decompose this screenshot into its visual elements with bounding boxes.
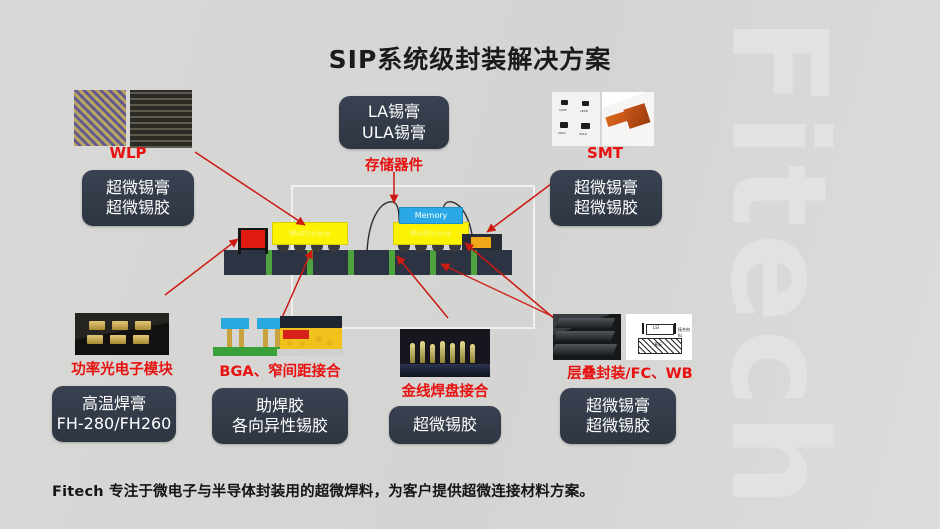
box-memory-materials: LA锡膏 ULA锡膏 — [339, 96, 449, 149]
smt-component — [581, 123, 590, 129]
red-capacitor-component — [238, 228, 268, 250]
gold-wire — [460, 341, 465, 363]
fc-wb-schematic: LSI 接合材料 基板 — [626, 314, 692, 360]
fp-top-die — [280, 316, 342, 328]
schematic-bump — [642, 323, 644, 334]
substrate-via — [471, 250, 477, 275]
ball-grid-array-photo — [130, 90, 192, 148]
memory-chip: Memory — [399, 207, 463, 224]
caption-power-module: 功率光电子模块 — [52, 358, 192, 379]
die-label-right: Multicore — [410, 229, 451, 238]
fp-solder-ball — [299, 341, 305, 347]
box-gold-wire-materials: 超微锡胶 — [389, 406, 501, 444]
substrate-via — [348, 250, 354, 275]
wire-bond-substrate — [400, 364, 490, 377]
fp-solder-ball — [315, 336, 322, 343]
flex-pcb-photo — [602, 92, 654, 146]
box-stacked-line-1: 超微锡膏 — [586, 396, 650, 416]
smt-component — [561, 100, 568, 105]
memory-chip-label: Memory — [415, 211, 448, 220]
fp-solder-ball — [327, 340, 333, 346]
stacked-die-layer — [553, 344, 617, 355]
caption-wlp: WLP — [98, 144, 158, 162]
caption-smt: SMT — [575, 144, 635, 162]
box-smt-materials: 超微锡膏 超微锡胶 — [550, 170, 662, 226]
box-memory-line-1: LA锡膏 — [368, 102, 420, 122]
box-bga-materials: 助焊胶 各向异性锡胶 — [212, 388, 348, 444]
caption-stacked-package: 层叠封装/FC、WB — [540, 362, 720, 383]
box-smt-line-2: 超微锡胶 — [574, 198, 638, 218]
box-power-line-2: FH-280/FH260 — [57, 414, 172, 434]
box-memory-line-2: ULA锡膏 — [362, 123, 426, 143]
schematic-die-label: LSI — [653, 325, 659, 330]
smt-component-code: 2012 — [558, 131, 566, 135]
schematic-board-label: 基板 — [654, 342, 662, 348]
caption-memory-device: 存储器件 — [348, 154, 440, 175]
gold-wire — [450, 343, 455, 363]
gold-wire-bond-photo — [400, 329, 490, 377]
box-wlp-line-2: 超微锡胶 — [106, 198, 170, 218]
bga-interconnect — [263, 329, 268, 347]
capacitor-lead — [265, 230, 268, 254]
box-bga-line-2: 各向异性锡胶 — [232, 416, 328, 436]
gold-wire — [470, 344, 475, 363]
bga-interconnect — [227, 329, 232, 347]
gold-wire — [430, 344, 435, 363]
bga-interconnect — [239, 329, 244, 347]
smt-component-code: 1608 — [580, 109, 588, 113]
multicore-die-left: Multicore — [272, 222, 348, 245]
smt-component-right — [462, 234, 502, 250]
substrate-via — [389, 250, 395, 275]
substrate-via — [430, 250, 436, 275]
module-pad — [133, 335, 149, 344]
stacked-die-layer — [553, 331, 615, 341]
gold-wire — [410, 343, 415, 363]
caption-bga: BGA、窄间距接合 — [200, 360, 360, 381]
stacked-die-layer — [555, 318, 615, 328]
smt-chip-components-photo: 1005 1608 2012 3216 — [552, 92, 600, 146]
schematic-die — [646, 324, 674, 335]
power-module-photo — [75, 313, 169, 355]
gold-wire — [420, 341, 425, 363]
box-power-materials: 高温焊膏 FH-280/FH260 — [52, 386, 176, 442]
bga-die — [221, 318, 249, 329]
fp-flux-zone — [283, 330, 309, 339]
box-smt-line-1: 超微锡膏 — [574, 178, 638, 198]
solder-joint — [471, 237, 491, 248]
module-pad — [135, 321, 151, 330]
smt-component — [560, 122, 568, 128]
capacitor-lead — [238, 230, 241, 254]
flex-connector — [623, 103, 650, 129]
module-pad — [89, 321, 105, 330]
box-power-line-1: 高温焊膏 — [82, 394, 146, 414]
gold-wire — [440, 341, 445, 363]
footer-caption: Fitech 专注于微电子与半导体封装用的超微焊料，为客户提供超微连接材料方案。 — [52, 480, 594, 501]
substrate-via — [307, 250, 313, 275]
box-stacked-materials: 超微锡膏 超微锡胶 — [560, 388, 676, 444]
fp-substrate — [277, 349, 345, 356]
module-pad — [110, 335, 126, 344]
box-gold-wire-line-1: 超微锡胶 — [413, 415, 477, 435]
box-wlp-materials: 超微锡膏 超微锡胶 — [82, 170, 194, 226]
sip-cross-section-diagram: Multicore Multicore Memory — [0, 0, 940, 529]
schematic-bump — [674, 323, 676, 334]
module-pad — [112, 321, 128, 330]
wafer-die-photo — [74, 90, 126, 146]
smt-component-code: 3216 — [579, 132, 587, 136]
stacked-die-photo — [553, 314, 621, 360]
die-label-left: Multicore — [289, 229, 330, 238]
fp-solder-ball — [287, 340, 293, 346]
smt-component — [582, 101, 589, 106]
fine-pitch-joint-diagram — [277, 316, 345, 356]
slide-canvas: Fitech SIP系统级封装解决方案 Multicore — [0, 0, 940, 529]
box-stacked-line-2: 超微锡胶 — [586, 416, 650, 436]
box-bga-line-1: 助焊胶 — [256, 396, 304, 416]
smt-component-code: 1005 — [559, 108, 567, 112]
caption-gold-wire: 金线焊盘接合 — [385, 380, 505, 401]
module-pad — [87, 335, 103, 344]
box-wlp-line-1: 超微锡膏 — [106, 178, 170, 198]
multicore-die-right: Multicore — [393, 222, 469, 245]
